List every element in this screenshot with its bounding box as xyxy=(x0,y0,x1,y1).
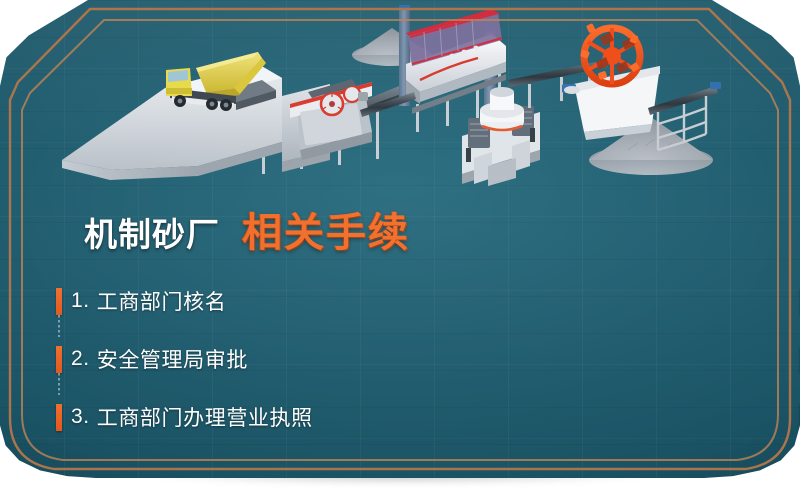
infographic-banner: 机制砂厂 相关手续 1. 工商部门核名 2. 安全管理局审批 xyxy=(0,0,800,500)
panel-vignette xyxy=(0,0,800,478)
teal-panel: 机制砂厂 相关手续 1. 工商部门核名 2. 安全管理局审批 xyxy=(0,0,800,478)
